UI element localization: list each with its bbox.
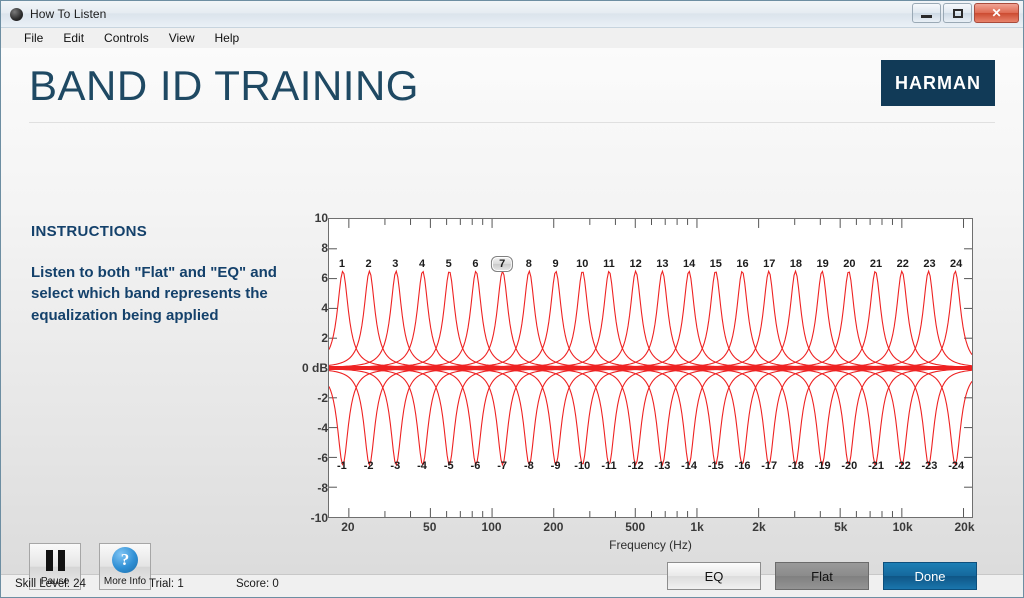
- y-tick-label: 2: [321, 331, 328, 345]
- instructions-panel: INSTRUCTIONS Listen to both "Flat" and "…: [31, 223, 281, 326]
- band-top-label[interactable]: 3: [392, 258, 398, 270]
- maximize-icon: [953, 9, 963, 18]
- band-bottom-label[interactable]: -20: [841, 460, 857, 472]
- x-tick-label: 20: [341, 520, 354, 534]
- instructions-heading: INSTRUCTIONS: [31, 223, 281, 240]
- band-bottom-label[interactable]: -9: [551, 460, 561, 472]
- window-controls: ✕: [912, 3, 1019, 23]
- x-tick-label: 2k: [752, 520, 765, 534]
- x-axis-labels: 20501002005001k2k5k10k20k: [328, 520, 973, 538]
- x-tick-label: 20k: [954, 520, 974, 534]
- main-content: BAND ID TRAINING HARMAN INSTRUCTIONS Lis…: [1, 48, 1023, 574]
- band-bottom-label[interactable]: -13: [654, 460, 670, 472]
- x-tick-label: 200: [543, 520, 563, 534]
- status-score: Score: 0: [236, 578, 279, 590]
- band-bottom-label[interactable]: -24: [948, 460, 964, 472]
- band-bottom-label[interactable]: -11: [601, 460, 616, 472]
- y-axis-labels: 1086420 dB-2-4-6-8-10: [286, 198, 328, 508]
- title-bar: How To Listen ✕: [1, 1, 1023, 28]
- band-top-label[interactable]: 12: [630, 258, 642, 270]
- band-bottom-label[interactable]: -7: [497, 460, 507, 472]
- y-tick-label: 4: [321, 301, 328, 315]
- band-top-label[interactable]: 14: [683, 258, 695, 270]
- menu-item-controls[interactable]: Controls: [95, 29, 158, 47]
- menu-item-view[interactable]: View: [160, 29, 204, 47]
- band-top-label[interactable]: 22: [897, 258, 909, 270]
- close-button[interactable]: ✕: [974, 3, 1019, 23]
- band-bottom-label[interactable]: -8: [524, 460, 534, 472]
- band-top-label[interactable]: 17: [763, 258, 775, 270]
- band-top-label[interactable]: 8: [526, 258, 532, 270]
- band-top-label[interactable]: 13: [656, 258, 668, 270]
- band-top-label[interactable]: 5: [446, 258, 452, 270]
- maximize-button[interactable]: [943, 3, 972, 23]
- band-bottom-label[interactable]: -10: [574, 460, 590, 472]
- page-title: BAND ID TRAINING: [29, 62, 419, 110]
- minimize-icon: [921, 15, 932, 18]
- y-tick-label: -6: [317, 451, 328, 465]
- menu-bar: FileEditControlsViewHelp: [1, 28, 1023, 48]
- band-bottom-label[interactable]: -17: [761, 460, 777, 472]
- band-bottom-label[interactable]: -6: [471, 460, 481, 472]
- y-tick-label: 0 dB: [302, 361, 328, 375]
- y-tick-label: 8: [321, 241, 328, 255]
- band-selector-highlight[interactable]: 7: [491, 256, 513, 272]
- band-top-label[interactable]: 1: [339, 258, 345, 270]
- band-bottom-label[interactable]: -14: [681, 460, 697, 472]
- band-bottom-label[interactable]: -16: [735, 460, 751, 472]
- x-tick-label: 1k: [690, 520, 703, 534]
- band-top-label[interactable]: 16: [736, 258, 748, 270]
- band-bottom-label[interactable]: -22: [895, 460, 911, 472]
- x-tick-label: 50: [423, 520, 436, 534]
- y-tick-label: 10: [315, 211, 328, 225]
- x-tick-label: 500: [625, 520, 645, 534]
- band-top-label[interactable]: 2: [366, 258, 372, 270]
- minimize-button[interactable]: [912, 3, 941, 23]
- band-bottom-label[interactable]: -3: [390, 460, 400, 472]
- x-tick-label: 100: [482, 520, 502, 534]
- menu-item-help[interactable]: Help: [206, 29, 249, 47]
- band-bottom-label[interactable]: -2: [364, 460, 374, 472]
- y-tick-label: -10: [311, 511, 328, 525]
- menu-item-file[interactable]: File: [15, 29, 52, 47]
- x-tick-label: 5k: [834, 520, 847, 534]
- band-bottom-label[interactable]: -21: [868, 460, 884, 472]
- band-top-label[interactable]: 9: [552, 258, 558, 270]
- band-top-label[interactable]: 18: [790, 258, 802, 270]
- band-bottom-label[interactable]: -23: [922, 460, 938, 472]
- page-header: BAND ID TRAINING HARMAN: [1, 48, 1023, 128]
- band-top-label[interactable]: 20: [843, 258, 855, 270]
- application-window: How To Listen ✕ FileEditControlsViewHelp…: [0, 0, 1024, 598]
- band-bottom-label[interactable]: -18: [788, 460, 804, 472]
- band-bottom-label[interactable]: -1: [337, 460, 347, 472]
- band-top-label[interactable]: 19: [817, 258, 829, 270]
- y-tick-label: -2: [317, 391, 328, 405]
- status-skill-level: Skill Level: 24: [15, 578, 86, 590]
- x-tick-label: 10k: [893, 520, 913, 534]
- band-top-label[interactable]: 23: [923, 258, 935, 270]
- menu-item-edit[interactable]: Edit: [54, 29, 93, 47]
- instructions-text: Listen to both "Flat" and "EQ" and selec…: [31, 262, 281, 326]
- band-top-label[interactable]: 21: [870, 258, 882, 270]
- window-title: How To Listen: [30, 7, 106, 21]
- band-top-label[interactable]: 4: [419, 258, 425, 270]
- band-bottom-label[interactable]: -5: [444, 460, 454, 472]
- status-bar: Skill Level: 24 Trial: 1 Score: 0: [1, 574, 1023, 597]
- band-top-label[interactable]: 6: [472, 258, 478, 270]
- band-top-label[interactable]: 15: [710, 258, 722, 270]
- status-trial: Trial: 1: [149, 578, 184, 590]
- band-bottom-label[interactable]: -15: [708, 460, 724, 472]
- harman-logo-text: HARMAN: [895, 73, 981, 94]
- y-tick-label: -4: [317, 421, 328, 435]
- band-bottom-label[interactable]: -12: [628, 460, 644, 472]
- eq-chart: 1086420 dB-2-4-6-8-10 20501002005001k2k5…: [286, 198, 1006, 558]
- harman-logo: HARMAN: [881, 60, 995, 106]
- header-divider: [29, 122, 995, 123]
- y-tick-label: -8: [317, 481, 328, 495]
- pause-icon: [46, 544, 65, 576]
- x-axis-title: Frequency (Hz): [328, 538, 973, 552]
- band-bottom-label[interactable]: -19: [815, 460, 831, 472]
- band-bottom-label[interactable]: -4: [417, 460, 427, 472]
- question-mark-icon: ?: [112, 544, 138, 576]
- y-tick-label: 6: [321, 271, 328, 285]
- app-circle-icon: [10, 8, 23, 21]
- band-top-label[interactable]: 24: [950, 258, 962, 270]
- band-top-label[interactable]: 11: [603, 258, 615, 270]
- band-top-label[interactable]: 10: [576, 258, 588, 270]
